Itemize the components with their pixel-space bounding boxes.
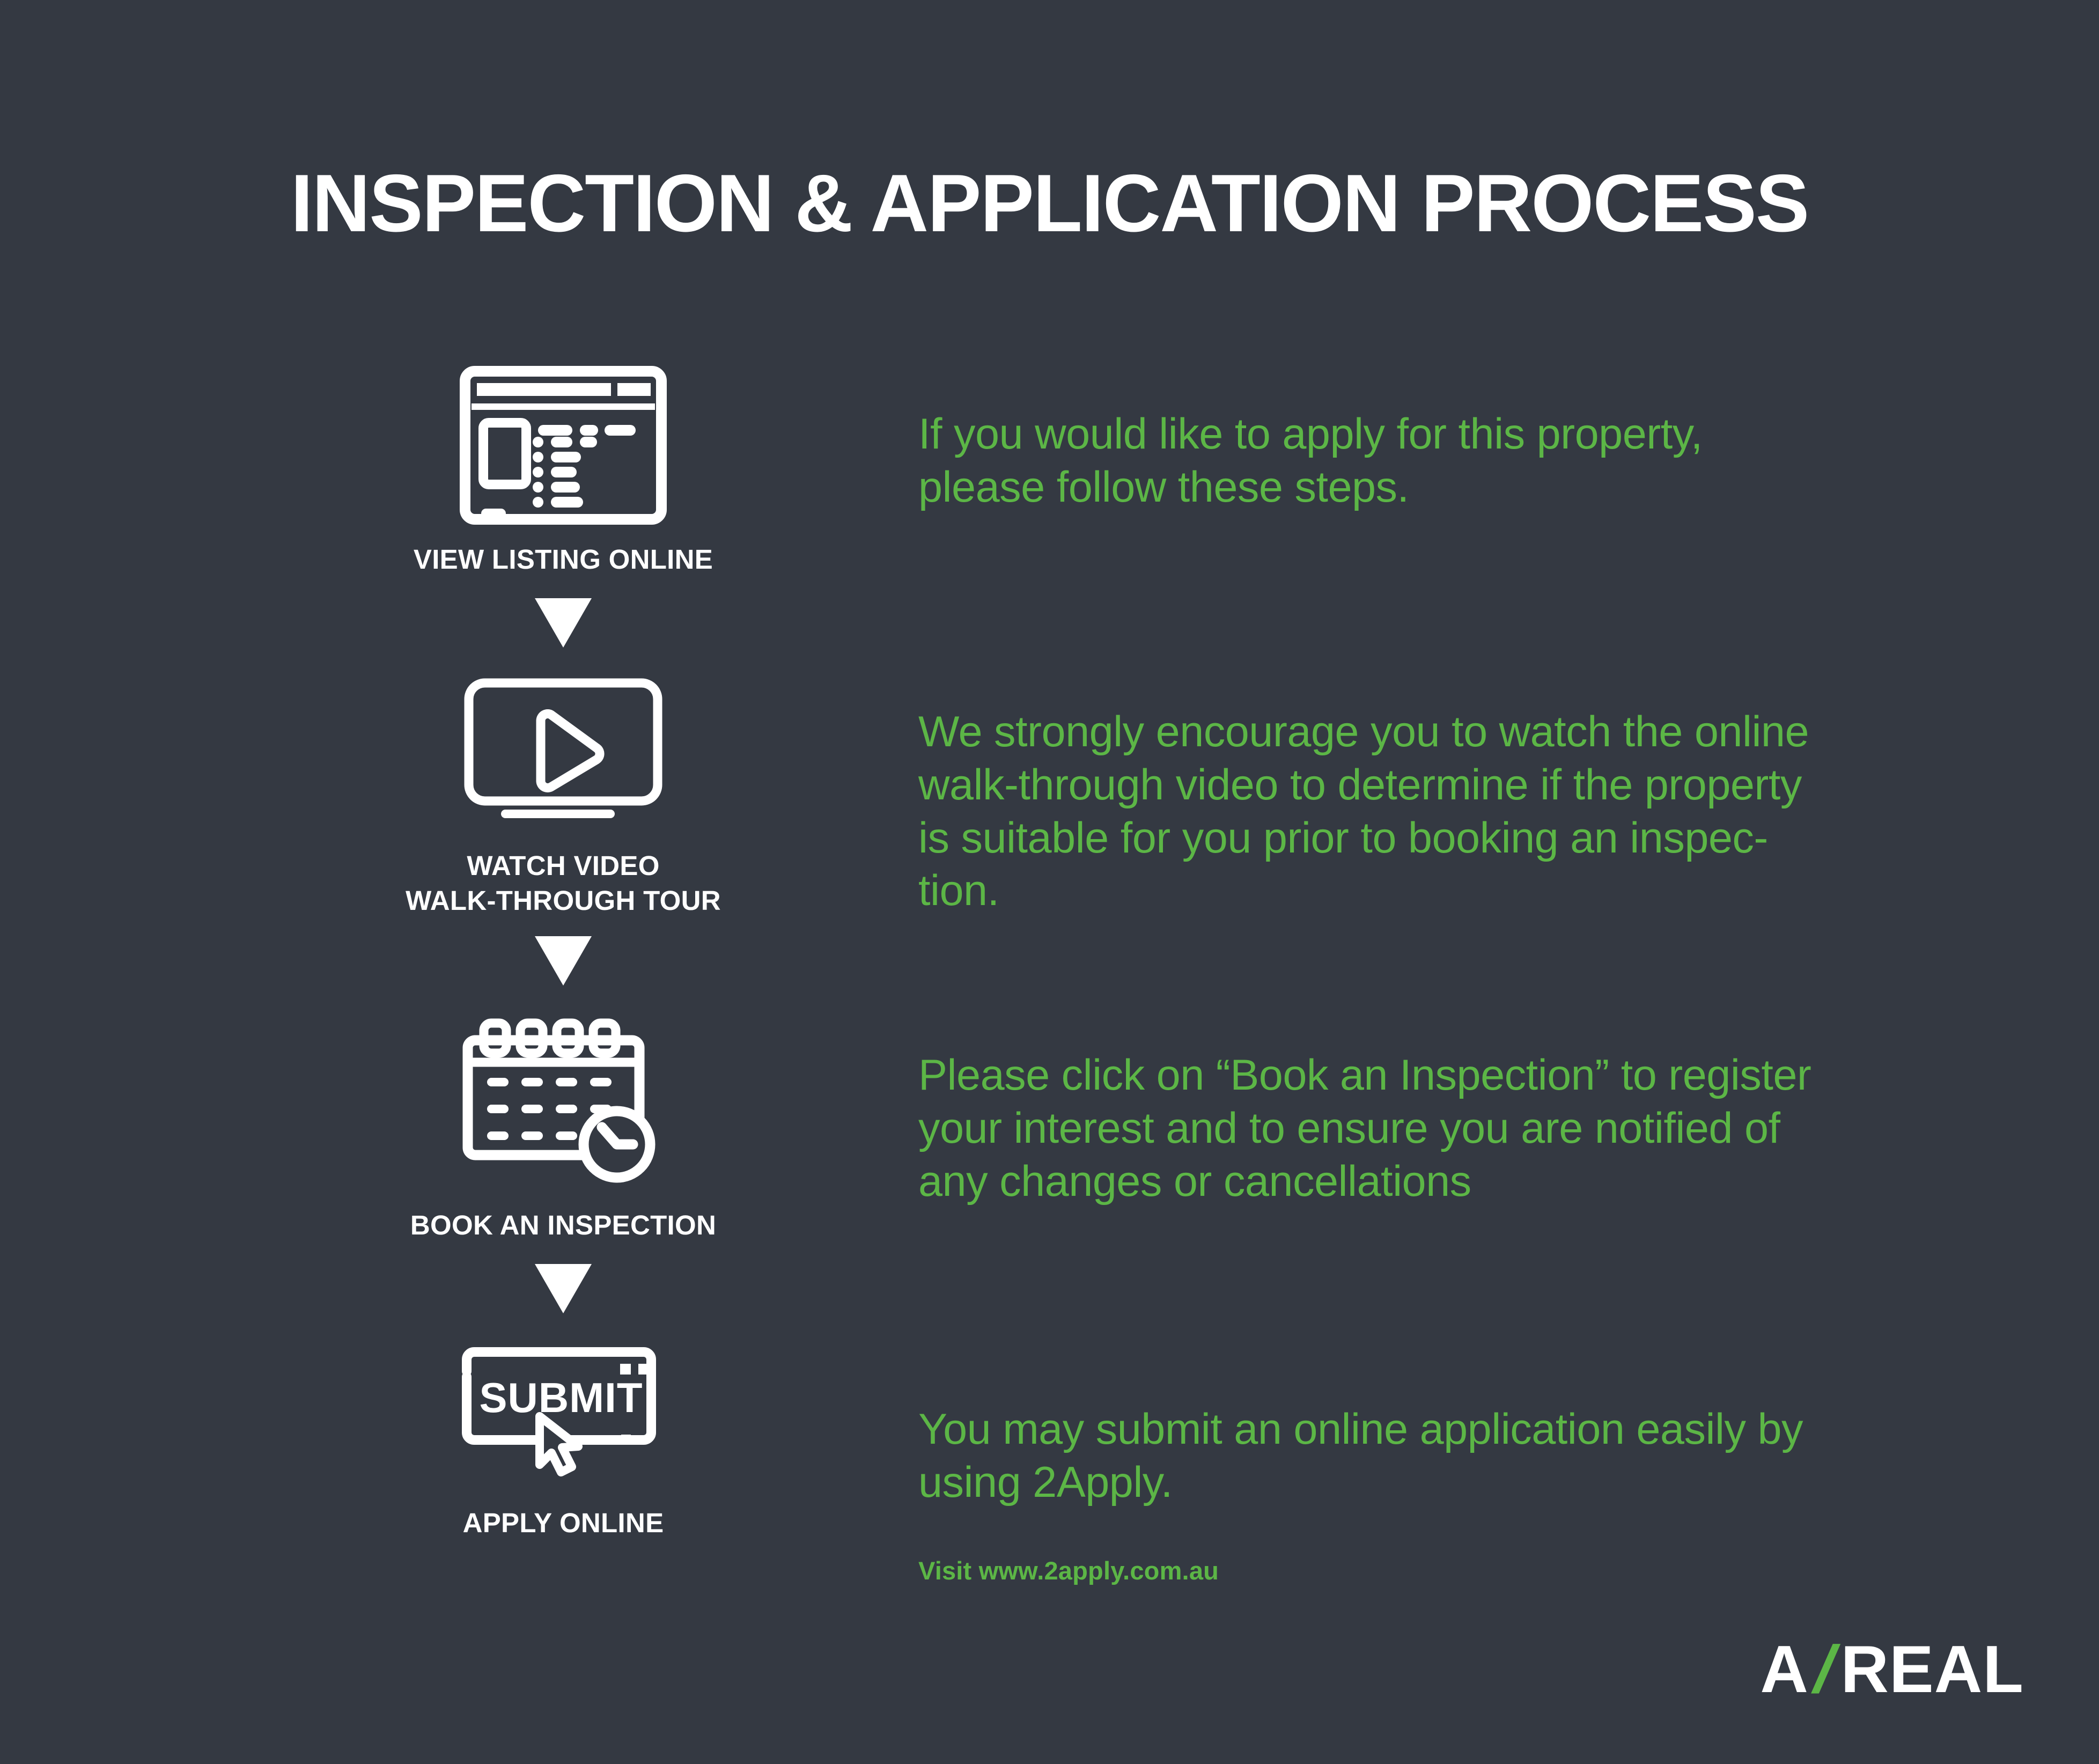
browser-listing-icon [459, 365, 668, 528]
visit-2apply-link[interactable]: Visit www.2apply.com.au [918, 1556, 1219, 1585]
step-watch-video: WATCH VIDEO WALK-THROUGH TOUR [343, 671, 783, 986]
step-book-inspection: BOOK AN INSPECTION [343, 1009, 783, 1313]
step-label-book-inspection: BOOK AN INSPECTION [410, 1208, 716, 1243]
logo-slash-icon: / [1807, 1631, 1845, 1708]
triangle-down-arrow-2 [535, 936, 592, 986]
logo-text-a: A [1760, 1631, 1809, 1708]
step-label-watch-video: WATCH VIDEO WALK-THROUGH TOUR [406, 849, 721, 918]
step-view-listing-online: VIEW LISTING ONLINE [343, 365, 783, 648]
step-body-view-listing-online: If you would like to apply for this prop… [918, 408, 1703, 514]
steps-column: VIEW LISTING ONLINE WATCH VIDEO WALK-THR… [343, 365, 783, 1540]
step-apply-online: SUBMIT APPLY ONLINE [343, 1337, 783, 1540]
logo-text-real: REAL [1840, 1631, 2024, 1708]
video-play-screen-icon [456, 671, 671, 835]
submit-button-cursor-icon: SUBMIT [451, 1337, 676, 1495]
calendar-clock-icon [456, 1009, 671, 1194]
triangle-down-arrow-1 [535, 598, 592, 648]
step-body-apply-online: You may submit an online application eas… [918, 1403, 1803, 1509]
page-title: INSPECTION & APPLICATION PROCESS [11, 161, 2089, 247]
step-body-watch-video: We strongly encourage you to watch the o… [918, 705, 1809, 917]
step-body-book-inspection: Please click on “Book an Inspection” to … [918, 1049, 1811, 1208]
infographic-canvas: INSPECTION & APPLICATION PROCESS [0, 0, 2099, 1764]
step-label-apply-online: APPLY ONLINE [463, 1506, 664, 1540]
step-label-view-listing-online: VIEW LISTING ONLINE [414, 542, 713, 577]
brand-logo: A / REAL [1760, 1631, 2024, 1708]
submit-icon-text: SUBMIT [480, 1374, 643, 1421]
triangle-down-arrow-3 [535, 1264, 592, 1313]
